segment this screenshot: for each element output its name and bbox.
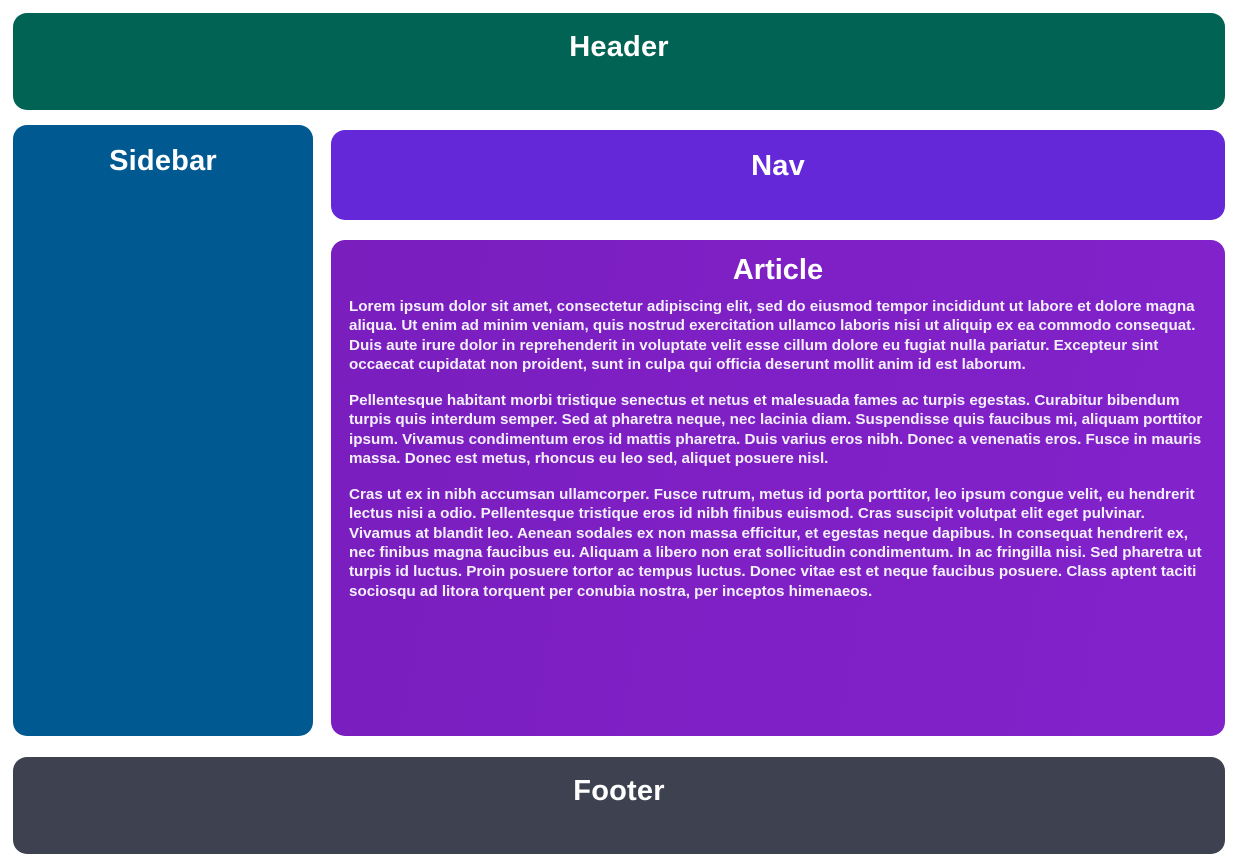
header-region: Header: [13, 13, 1225, 110]
footer-region: Footer: [13, 757, 1225, 854]
page-root: Header Sidebar Nav Article Lorem ipsum d…: [0, 0, 1238, 867]
sidebar-region: Sidebar: [13, 125, 313, 736]
article-region: Article Lorem ipsum dolor sit amet, cons…: [331, 240, 1225, 736]
nav-region[interactable]: Nav: [331, 130, 1225, 220]
header-title: Header: [13, 31, 1225, 64]
middle-row: Sidebar Nav Article Lorem ipsum dolor si…: [13, 125, 1225, 739]
nav-title: Nav: [331, 150, 1225, 183]
content-column: Nav Article Lorem ipsum dolor sit amet, …: [331, 125, 1225, 739]
article-title: Article: [349, 254, 1207, 287]
article-paragraph: Lorem ipsum dolor sit amet, consectetur …: [349, 297, 1207, 375]
sidebar-title: Sidebar: [13, 145, 313, 178]
article-paragraph: Cras ut ex in nibh accumsan ullamcorper.…: [349, 485, 1207, 602]
article-paragraph: Pellentesque habitant morbi tristique se…: [349, 391, 1207, 469]
footer-title: Footer: [13, 775, 1225, 808]
